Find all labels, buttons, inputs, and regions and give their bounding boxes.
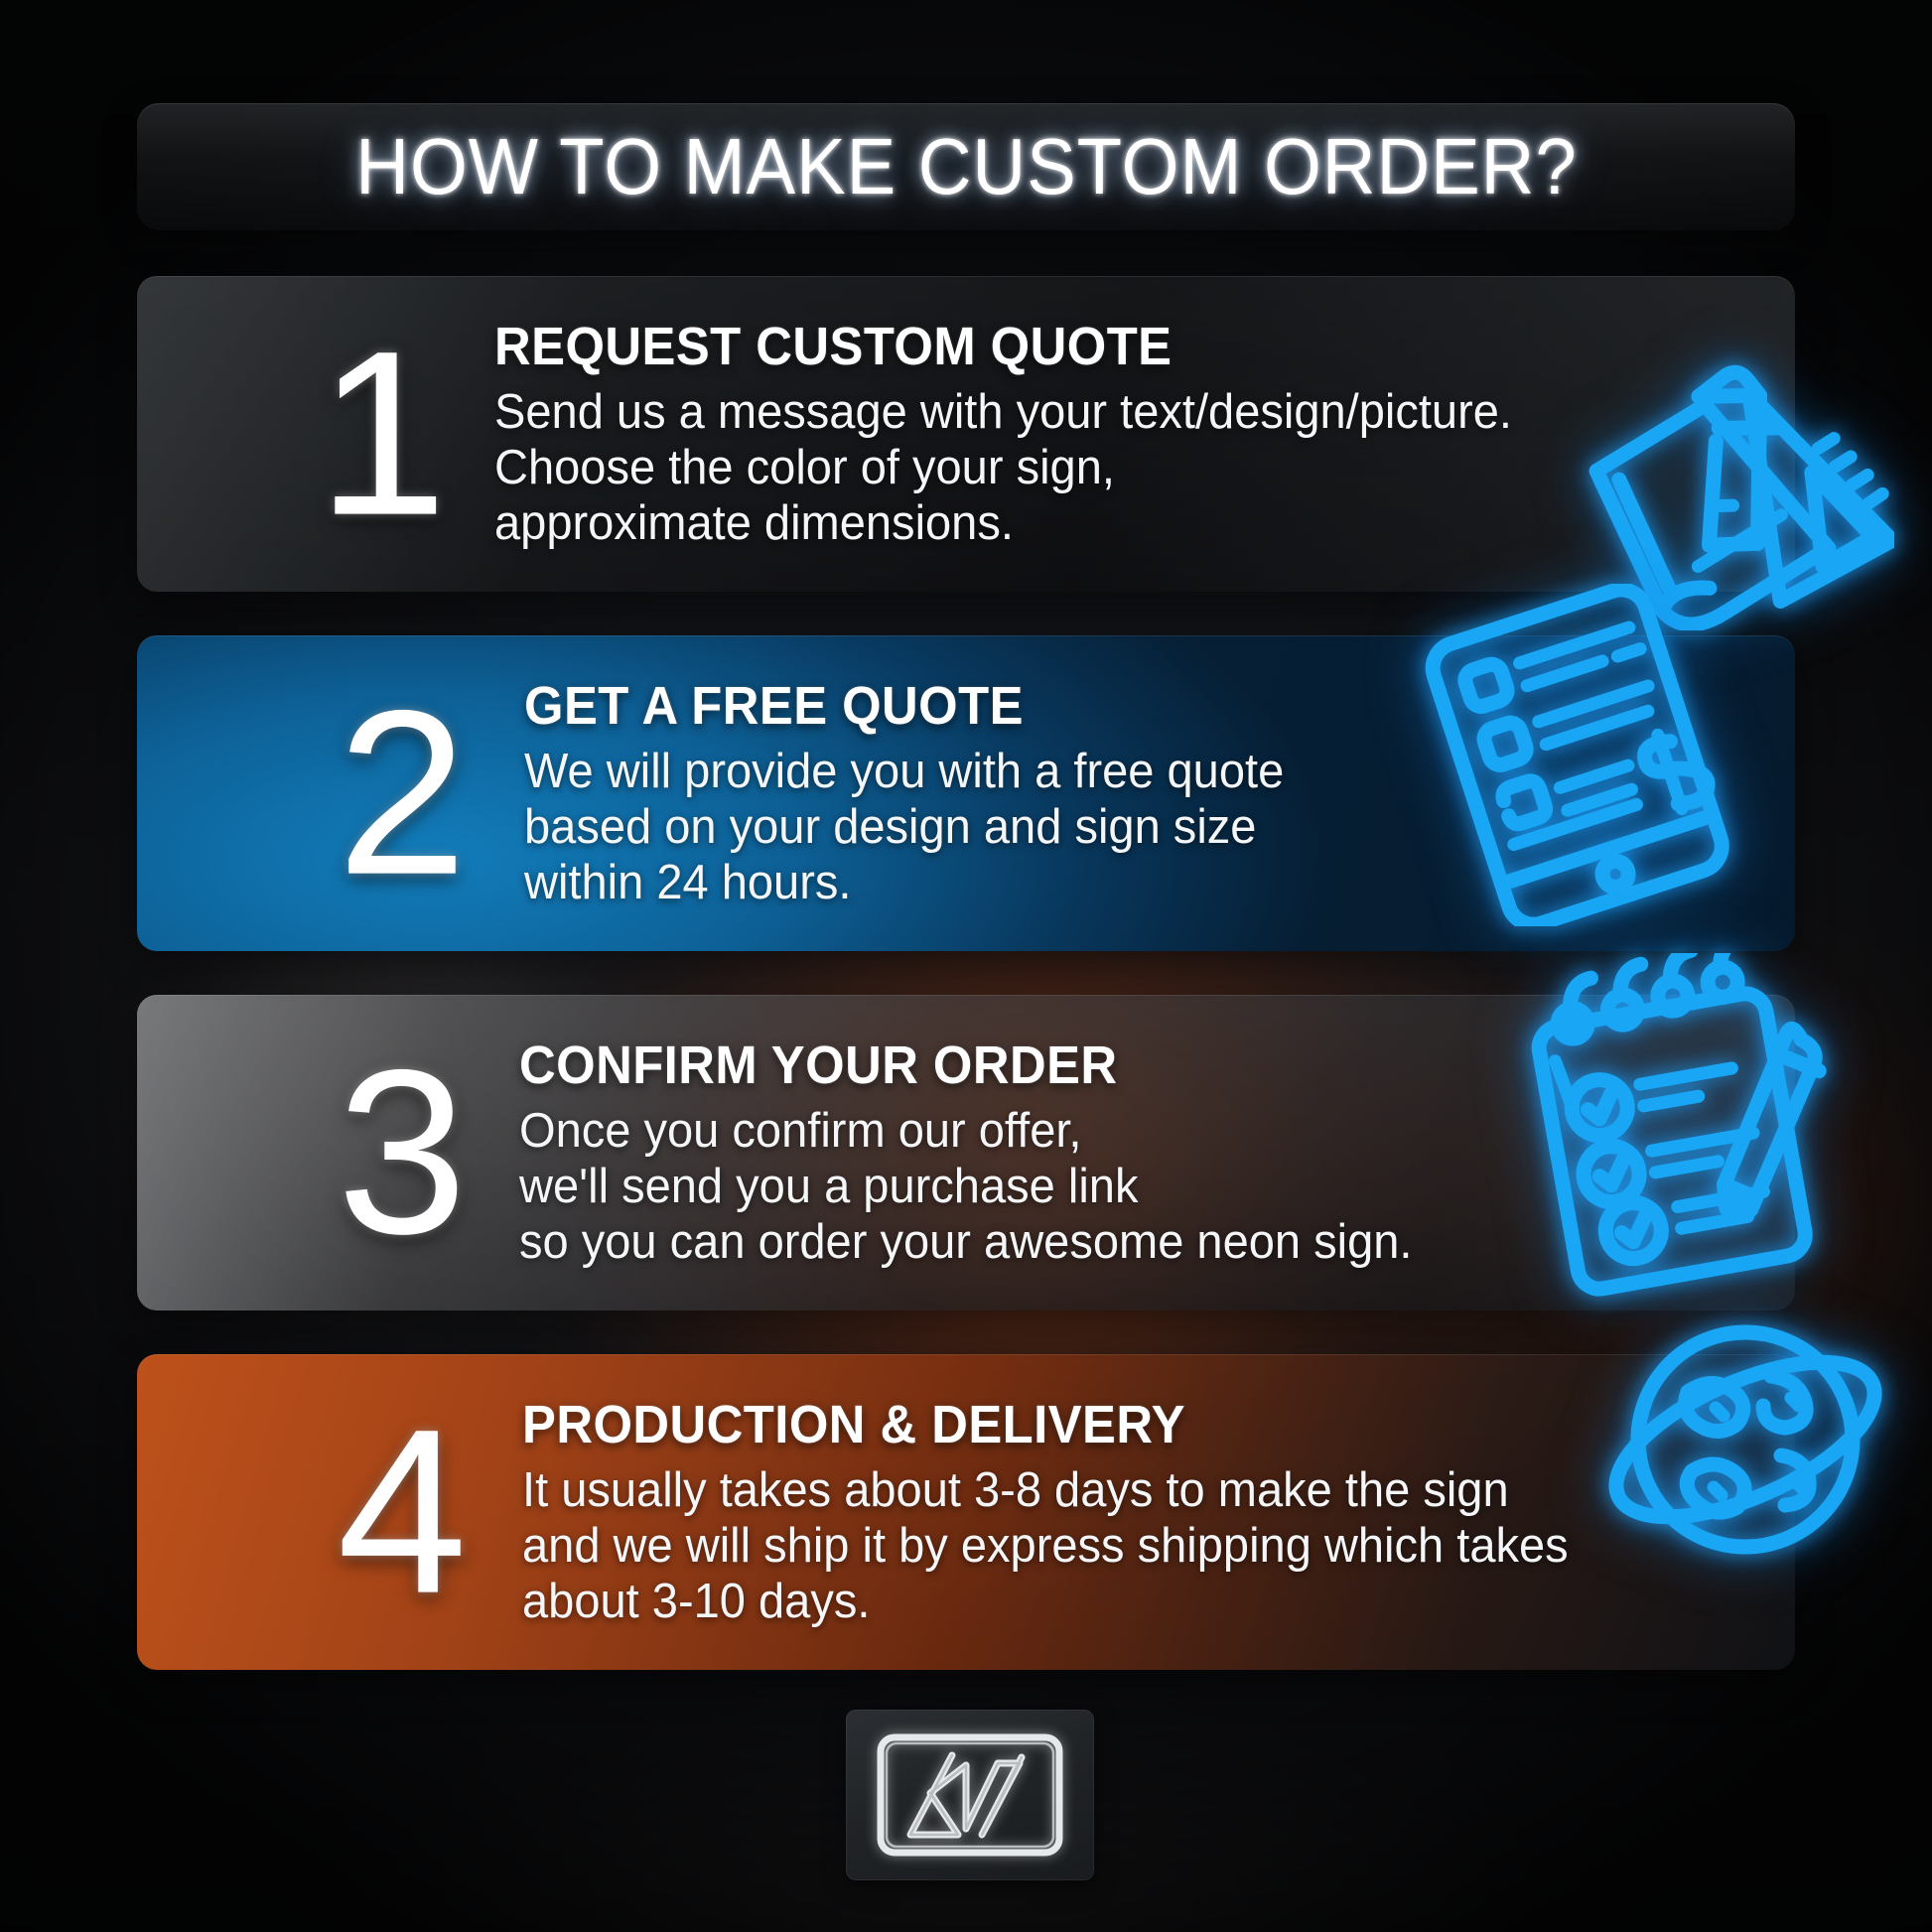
step-number-2: 2 [306,700,494,888]
title-bar: HOW TO MAKE CUSTOM ORDER? [137,103,1795,230]
step-heading-1: REQUEST CUSTOM QUOTE [494,316,1633,377]
step-body-line: Send us a message with your text/design/… [494,385,1657,441]
step-heading-4: PRODUCTION & DELIVERY [522,1394,1634,1455]
step-number-3: 3 [306,1059,494,1247]
step-text-4: PRODUCTION & DELIVERY It usually takes a… [522,1354,1706,1670]
globe-delivery-icon [1596,1291,1894,1588]
invoice-tablet-dollar-icon [1410,584,1747,926]
step-heading-3: CONFIRM YOUR ORDER [519,1035,1634,1096]
step-body-line: so you can order your awesome neon sign. [519,1215,1658,1271]
step-number-1: 1 [296,341,465,528]
step-body-line: about 3-10 days. [522,1575,1658,1630]
ln-neon-monogram-logo [846,1710,1094,1880]
step-card-1: 1 REQUEST CUSTOM QUOTE Send us a message… [137,276,1795,592]
step-body-line: Once you confirm our offer, [519,1104,1658,1160]
checklist-pencil-icon [1517,953,1864,1301]
step-text-1: REQUEST CUSTOM QUOTE Send us a message w… [494,276,1706,592]
step-body-line: It usually takes about 3-8 days to make … [522,1463,1658,1519]
infographic-root: HOW TO MAKE CUSTOM ORDER? 1 REQUEST CUST… [0,0,1932,1932]
page-title: HOW TO MAKE CUSTOM ORDER? [355,121,1577,212]
step-body-line: and we will ship it by express shipping … [522,1519,1658,1575]
step-body-line: we'll send you a purchase link [519,1160,1658,1215]
step-body-line: Choose the color of your sign, [494,441,1657,496]
step-card-4: 4 PRODUCTION & DELIVERY It usually takes… [137,1354,1795,1670]
content-layer: HOW TO MAKE CUSTOM ORDER? 1 REQUEST CUST… [0,0,1932,1932]
step-number-4: 4 [306,1419,494,1606]
step-body-line: approximate dimensions. [494,496,1657,552]
